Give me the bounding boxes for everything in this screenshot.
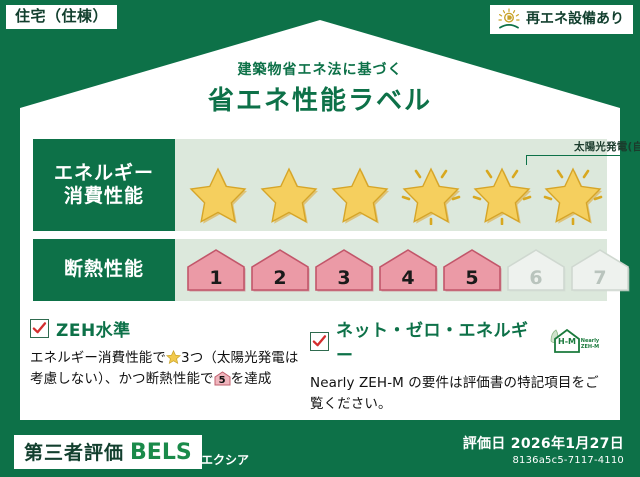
evaluation-id: 8136a5c5-7117-4110 xyxy=(463,455,624,466)
insulation-grade-number: 4 xyxy=(401,269,414,293)
evaluation-date: 評価日 2026年1月27日 xyxy=(463,433,624,453)
nearly-zeh-m-logo-icon: H-M Nearly ZEH-M xyxy=(544,327,600,355)
insulation-grade-number: 2 xyxy=(273,269,286,293)
checkmark-icon xyxy=(310,332,329,351)
insulation-grade-badge: 1 xyxy=(185,247,247,293)
insulation-grade-number: 6 xyxy=(529,269,542,293)
solar-bracket-caption: 太陽光発電(自家消費)分 xyxy=(505,139,640,154)
insulation-grade-badge: 7 xyxy=(569,247,631,293)
zeh-desc-part3: を達成 xyxy=(231,371,272,387)
zehm-logo-main: H-M xyxy=(558,337,576,346)
label-title: 省エネ性能ラベル xyxy=(0,80,640,117)
zeh-standard-header: ZEH水準 xyxy=(30,316,300,341)
inline-grade-badge: 5 xyxy=(214,371,231,386)
net-zero-energy-title: ネット・ゼロ・エネルギー xyxy=(336,316,537,366)
inline-star-icon xyxy=(166,350,181,364)
energy-label-line2: 消費性能 xyxy=(64,185,144,208)
insulation-grade-badge: 5 xyxy=(441,247,503,293)
certification-checks: ZEH水準 エネルギー消費性能で3つ（太陽光発電は考慮しない）、かつ断熱性能で5… xyxy=(0,316,640,415)
insulation-grade-badge: 2 xyxy=(249,247,311,293)
insulation-grade-number: 1 xyxy=(209,269,222,293)
insulation-performance-label-box: 断熱性能 xyxy=(33,239,175,301)
dwelling-type-text: 住宅（住棟） xyxy=(15,7,108,25)
energy-performance-label-box: エネルギー 消費性能 xyxy=(33,139,175,231)
energy-label-line1: エネルギー xyxy=(54,162,154,185)
star-rating-group xyxy=(175,161,607,227)
net-zero-energy-check: ネット・ゼロ・エネルギー H-M Nearly ZEH-M Nearly ZEH… xyxy=(300,316,600,415)
bels-side-text: エクシア xyxy=(201,451,249,468)
insulation-grade-number: 5 xyxy=(465,269,478,293)
net-zero-energy-header: ネット・ゼロ・エネルギー H-M Nearly ZEH-M xyxy=(310,316,600,366)
bels-jp-text: 第三者評価 xyxy=(24,438,124,465)
bels-certification-box: 第三者評価 BELS xyxy=(14,435,202,469)
star-solar xyxy=(467,163,537,225)
star-solar xyxy=(538,163,608,225)
star-filled xyxy=(254,163,324,225)
insulation-performance-row: 断熱性能 1 2 3 4 5 6 7 xyxy=(33,239,607,301)
inline-grade-number: 5 xyxy=(214,376,231,386)
insulation-grade-badge: 3 xyxy=(313,247,375,293)
star-filled xyxy=(325,163,395,225)
checkmark-icon xyxy=(30,319,49,338)
evaluation-info: 評価日 2026年1月27日 8136a5c5-7117-4110 xyxy=(463,433,624,466)
zeh-standard-description: エネルギー消費性能で3つ（太陽光発電は考慮しない）、かつ断熱性能で5を達成 xyxy=(30,348,300,390)
label-footer: 第三者評価 BELS エクシア 評価日 2026年1月27日 8136a5c5-… xyxy=(0,425,640,477)
bels-en-text: BELS xyxy=(130,440,192,465)
insulation-grade-group: 1 2 3 4 5 6 7 xyxy=(175,239,607,301)
insulation-grade-number: 7 xyxy=(593,269,606,293)
star-filled xyxy=(183,163,253,225)
insulation-rating-area: 1 2 3 4 5 6 7 xyxy=(175,239,607,301)
zehm-logo-sub2: ZEH-M xyxy=(581,344,599,350)
zeh-standard-title: ZEH水準 xyxy=(56,316,131,341)
insulation-grade-number: 3 xyxy=(337,269,350,293)
dwelling-type-tag: 住宅（住棟） xyxy=(6,5,117,29)
net-zero-energy-description: Nearly ZEH-M の要件は評価書の特記項目をご覧ください。 xyxy=(310,373,600,415)
energy-rating-area: 太陽光発電(自家消費)分 xyxy=(175,139,607,231)
insulation-grade-badge: 4 xyxy=(377,247,439,293)
label-subtitle: 建築物省エネ法に基づく xyxy=(0,59,640,79)
sun-solar-icon xyxy=(496,8,522,30)
energy-performance-row: エネルギー 消費性能 太陽光発電(自家消費)分 xyxy=(33,139,607,231)
insulation-grade-badge: 6 xyxy=(505,247,567,293)
star-solar xyxy=(396,163,466,225)
zeh-standard-check: ZEH水準 エネルギー消費性能で3つ（太陽光発電は考慮しない）、かつ断熱性能で5… xyxy=(0,316,300,415)
renewable-equipment-tag: 再エネ設備あり xyxy=(490,5,633,34)
zeh-desc-part1: エネルギー消費性能で xyxy=(30,350,166,366)
insulation-label-text: 断熱性能 xyxy=(64,258,144,281)
energy-performance-label: 住宅（住棟） 再エネ設備あり 建築物省エネ法に基づく 省エ xyxy=(0,0,640,477)
renewable-equipment-text: 再エネ設備あり xyxy=(526,11,624,27)
